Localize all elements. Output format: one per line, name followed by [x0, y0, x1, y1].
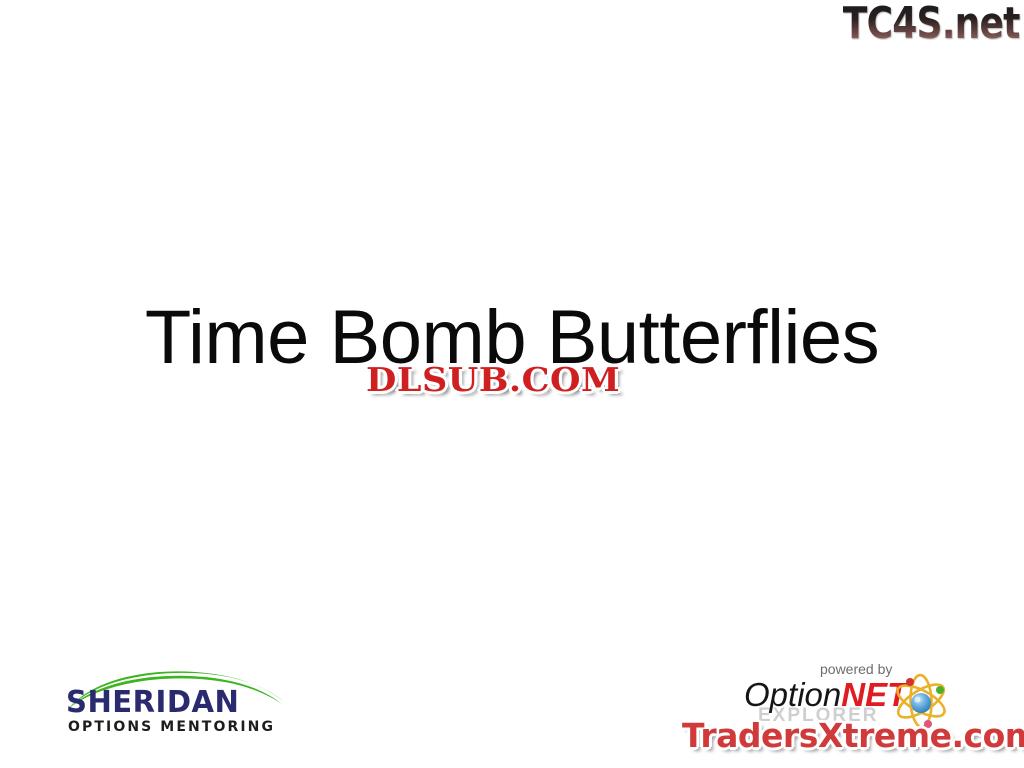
sheridan-logo: SHERIDAN OPTIONS MENTORING — [62, 668, 292, 744]
tradersxtreme-watermark: TradersXtreme.com — [682, 719, 1024, 752]
presentation-slide: TC4S.net Time Bomb Butterflies DLSUB.COM… — [0, 0, 1024, 768]
sheridan-name: SHERIDAN — [66, 688, 239, 718]
tc4s-watermark: TC4S.net — [843, 2, 1020, 46]
sheridan-tagline: OPTIONS MENTORING — [68, 720, 275, 734]
dlsub-watermark: DLSUB.COM — [366, 363, 620, 396]
powered-by-label: powered by — [820, 662, 892, 676]
